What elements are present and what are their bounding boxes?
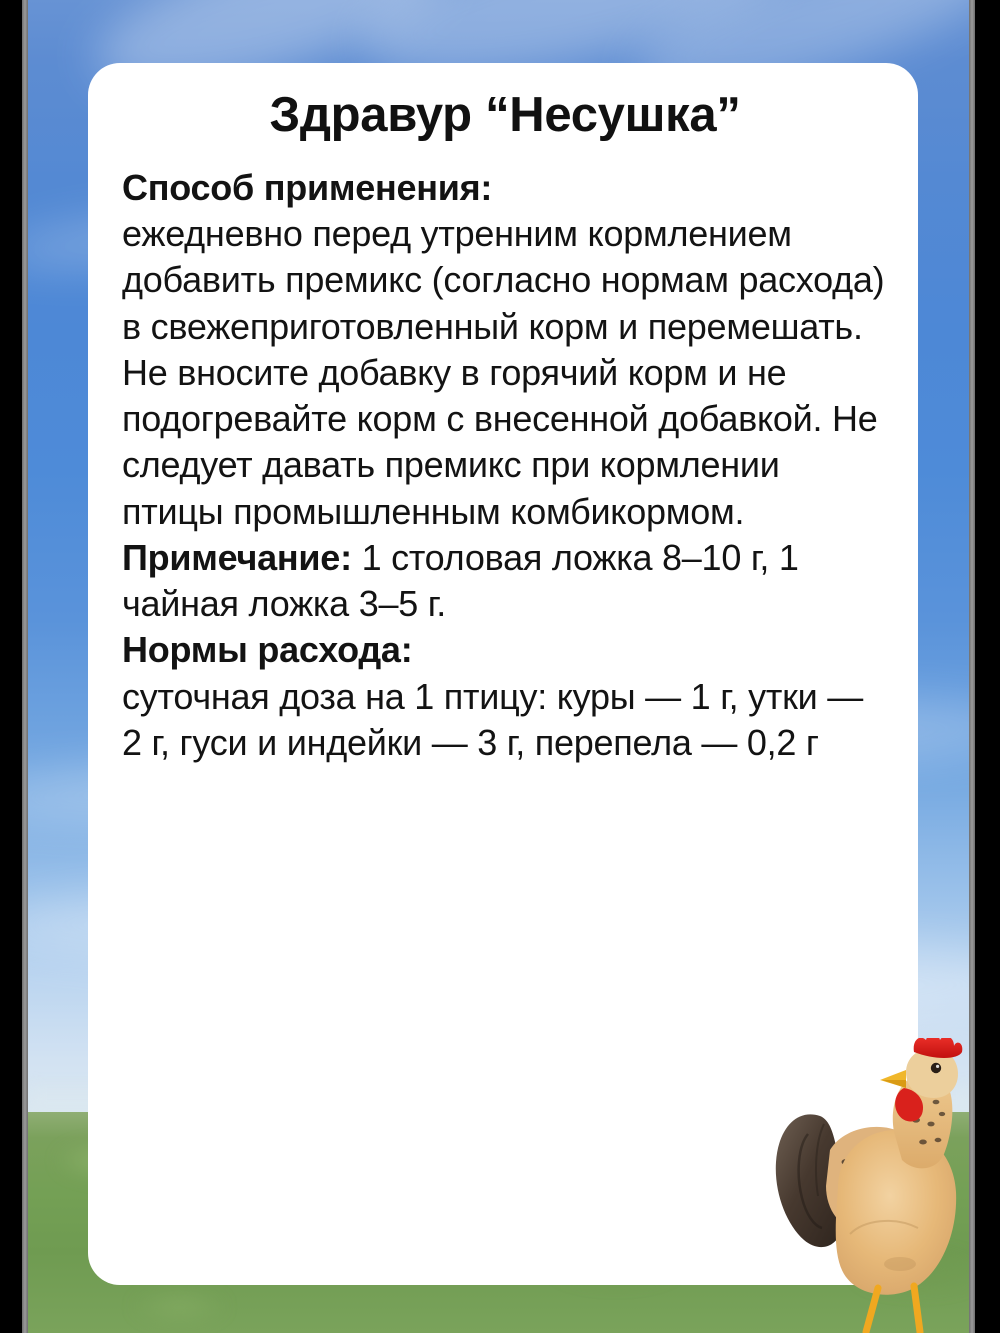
- warning-body: Не вносите добавку в горячий корм и не п…: [122, 350, 888, 535]
- section-dosage: Нормы расхода: суточная доза на 1 птицу:…: [122, 627, 888, 766]
- dosage-heading: Нормы расхода:: [122, 627, 888, 673]
- screenshot-stage: Здравур “Несушка” Способ применения: еже…: [0, 0, 1000, 1333]
- dosage-body: суточная доза на 1 птицу: куры — 1 г, ут…: [122, 674, 888, 767]
- note-heading: Примечание:: [122, 537, 352, 578]
- letterbox-bar-left: [0, 0, 22, 1333]
- chicken-beak: [880, 1070, 906, 1088]
- section-usage: Способ применения: ежедневно перед утрен…: [122, 165, 888, 350]
- usage-body: ежедневно перед утренним кормлением доба…: [122, 211, 888, 350]
- letterbox-bar-right: [975, 0, 1000, 1333]
- section-warning: Не вносите добавку в горячий корм и не п…: [122, 350, 888, 535]
- frame-seam-left: [22, 0, 28, 1333]
- usage-heading: Способ применения:: [122, 165, 888, 211]
- page-title: Здравур “Несушка”: [122, 89, 888, 143]
- chicken-eye: [931, 1063, 941, 1073]
- note-line: Примечание: 1 столовая ложка 8–10 г, 1 ч…: [122, 535, 888, 628]
- note-spacer: [352, 537, 362, 578]
- chicken-photo: [768, 1038, 968, 1333]
- section-note: Примечание: 1 столовая ложка 8–10 г, 1 ч…: [122, 535, 888, 628]
